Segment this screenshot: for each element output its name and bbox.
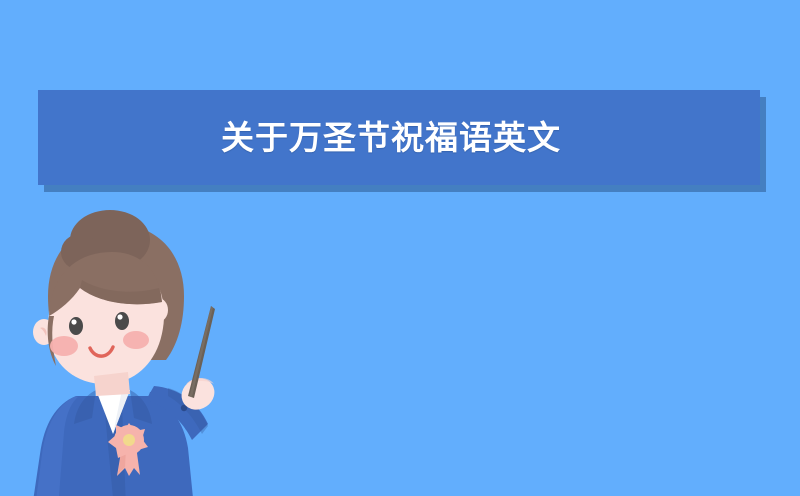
- eye-left: [69, 317, 83, 335]
- banner-canvas: 关于万圣节祝福语英文: [0, 0, 800, 496]
- teacher-head: [33, 210, 184, 396]
- page-title: 关于万圣节祝福语英文: [221, 121, 561, 154]
- blush-right: [123, 331, 149, 349]
- blush-left: [50, 336, 78, 356]
- teacher-illustration: [18, 218, 258, 496]
- eye-right: [115, 312, 129, 330]
- title-bar: 关于万圣节祝福语英文: [38, 90, 760, 185]
